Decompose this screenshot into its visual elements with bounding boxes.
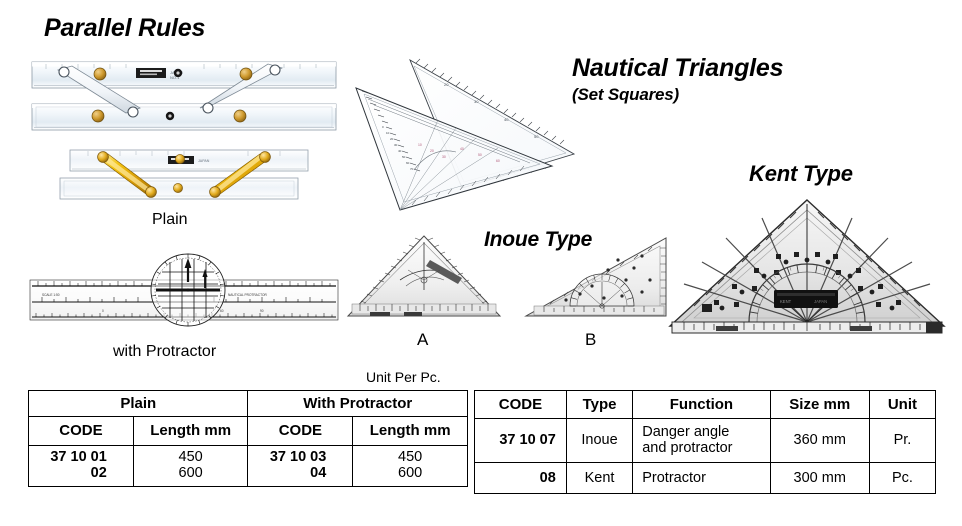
caption-triangle-b: B (585, 331, 596, 348)
svg-text:30: 30 (442, 155, 446, 159)
column-header-protractor-length: Length mm (353, 417, 468, 445)
column-header-plain-length: Length mm (133, 417, 248, 445)
svg-text:30: 30 (394, 143, 398, 147)
table-column-header-row: CODE Length mm CODE Length mm (29, 417, 468, 445)
cell-type-kent: Kent (566, 462, 632, 494)
parallel-rule-yellow-handles-photo: JAPAN (58, 148, 310, 204)
svg-text:50: 50 (402, 155, 406, 159)
svg-text:90: 90 (260, 309, 264, 313)
svg-text:60: 60 (496, 159, 500, 163)
cell-unit-inoue: Pr. (869, 419, 935, 462)
svg-text:70: 70 (410, 167, 414, 171)
svg-text:KENT: KENT (780, 299, 792, 304)
svg-text:10: 10 (386, 131, 390, 135)
svg-text:60: 60 (220, 309, 224, 313)
caption-triangle-a: A (417, 331, 428, 348)
parallel-rule-with-protractor-photo: SCALE 1:50 NAUTICAL PROTRACTOR 06090 (28, 252, 340, 336)
svg-text:NAUTICAL PROTRACTOR: NAUTICAL PROTRACTOR (228, 293, 267, 297)
svg-text:0: 0 (102, 309, 104, 313)
triangles-table-wrapper: CODE Type Function Size mm Unit 37 10 07… (474, 390, 936, 494)
triangles-table: CODE Type Function Size mm Unit 37 10 07… (474, 390, 936, 494)
table-row: 08 Kent Protractor 300 mm Pc. (475, 462, 936, 494)
svg-text:JAPAN: JAPAN (814, 299, 827, 304)
section-title-kent-type: Kent Type (749, 163, 853, 185)
cell-unit-kent: Pc. (869, 462, 935, 494)
svg-text:SCALE 1:50: SCALE 1:50 (42, 293, 60, 297)
column-header-unit: Unit (869, 391, 935, 419)
cell-protractor-length-group: 450 600 (353, 445, 468, 486)
page-subtitle-set-squares: (Set Squares) (572, 86, 679, 103)
table-row: 37 10 07 Inoue Danger angle and protract… (475, 419, 936, 462)
cell-plain-length-group: 450 600 (133, 445, 248, 486)
column-header-type: Type (566, 391, 632, 419)
unit-per-pc-note: Unit Per Pc. (366, 370, 441, 384)
cell-plain-length-2: 600 (139, 465, 243, 482)
caption-with-protractor: with Protractor (113, 344, 216, 360)
cell-function-inoue: Danger angle and protractor (633, 419, 770, 462)
kent-type-triangle-photo: KENT JAPAN (664, 196, 950, 336)
column-header-function: Function (633, 391, 770, 419)
cell-plain-code-1: 37 10 01 (34, 449, 107, 466)
svg-text:60: 60 (406, 161, 410, 165)
cell-code-kent: 08 (475, 462, 567, 494)
cell-protractor-code-1: 37 10 03 (253, 449, 326, 466)
parallel-rules-table: Plain With Protractor CODE Length mm COD… (28, 390, 468, 487)
parallel-rules-table-wrapper: Plain With Protractor CODE Length mm COD… (28, 390, 468, 487)
cell-size-inoue: 360 mm (770, 419, 869, 462)
svg-text:20: 20 (390, 137, 394, 141)
cell-plain-code-group: 37 10 01 02 (29, 445, 134, 486)
column-header-code: CODE (475, 391, 567, 419)
column-header-size: Size mm (770, 391, 869, 419)
group-header-with-protractor: With Protractor (248, 391, 468, 417)
table-column-header-row: CODE Type Function Size mm Unit (475, 391, 936, 419)
nautical-triangles-pair-photo: 203040 50 (352, 58, 582, 233)
caption-plain: Plain (152, 212, 188, 228)
cell-code-inoue: 37 10 07 (475, 419, 567, 462)
svg-text:10: 10 (418, 143, 422, 147)
cell-protractor-code-2: 04 (253, 465, 326, 482)
column-header-protractor-code: CODE (248, 417, 353, 445)
svg-text:JAPAN: JAPAN (198, 159, 210, 163)
page-title-nautical-triangles: Nautical Triangles (572, 56, 783, 81)
cell-size-kent: 300 mm (770, 462, 869, 494)
cell-plain-length-1: 450 (139, 449, 243, 466)
inoue-triangle-a-photo (344, 234, 504, 326)
cell-protractor-length-2: 600 (358, 465, 462, 482)
svg-text:40: 40 (460, 147, 464, 151)
inoue-triangle-b-photo (522, 236, 670, 326)
cell-function-kent: Protractor (633, 462, 770, 494)
cell-protractor-length-1: 450 (358, 449, 462, 466)
page-title-parallel-rules: Parallel Rules (44, 16, 205, 41)
cell-plain-code-2: 02 (34, 465, 107, 482)
cell-protractor-code-group: 37 10 03 04 (248, 445, 353, 486)
svg-text:50: 50 (534, 134, 539, 139)
table-group-header-row: Plain With Protractor (29, 391, 468, 417)
svg-text:20: 20 (430, 149, 434, 153)
svg-text:40: 40 (504, 117, 509, 122)
cell-type-inoue: Inoue (566, 419, 632, 462)
svg-text:50: 50 (478, 153, 482, 157)
column-header-plain-code: CODE (29, 417, 134, 445)
group-header-plain: Plain (29, 391, 248, 417)
parallel-rule-plain-photo: JAPAN NO.1 (28, 60, 340, 138)
svg-text:30: 30 (474, 99, 479, 104)
svg-text:40: 40 (398, 149, 402, 153)
svg-text:20: 20 (444, 82, 449, 87)
